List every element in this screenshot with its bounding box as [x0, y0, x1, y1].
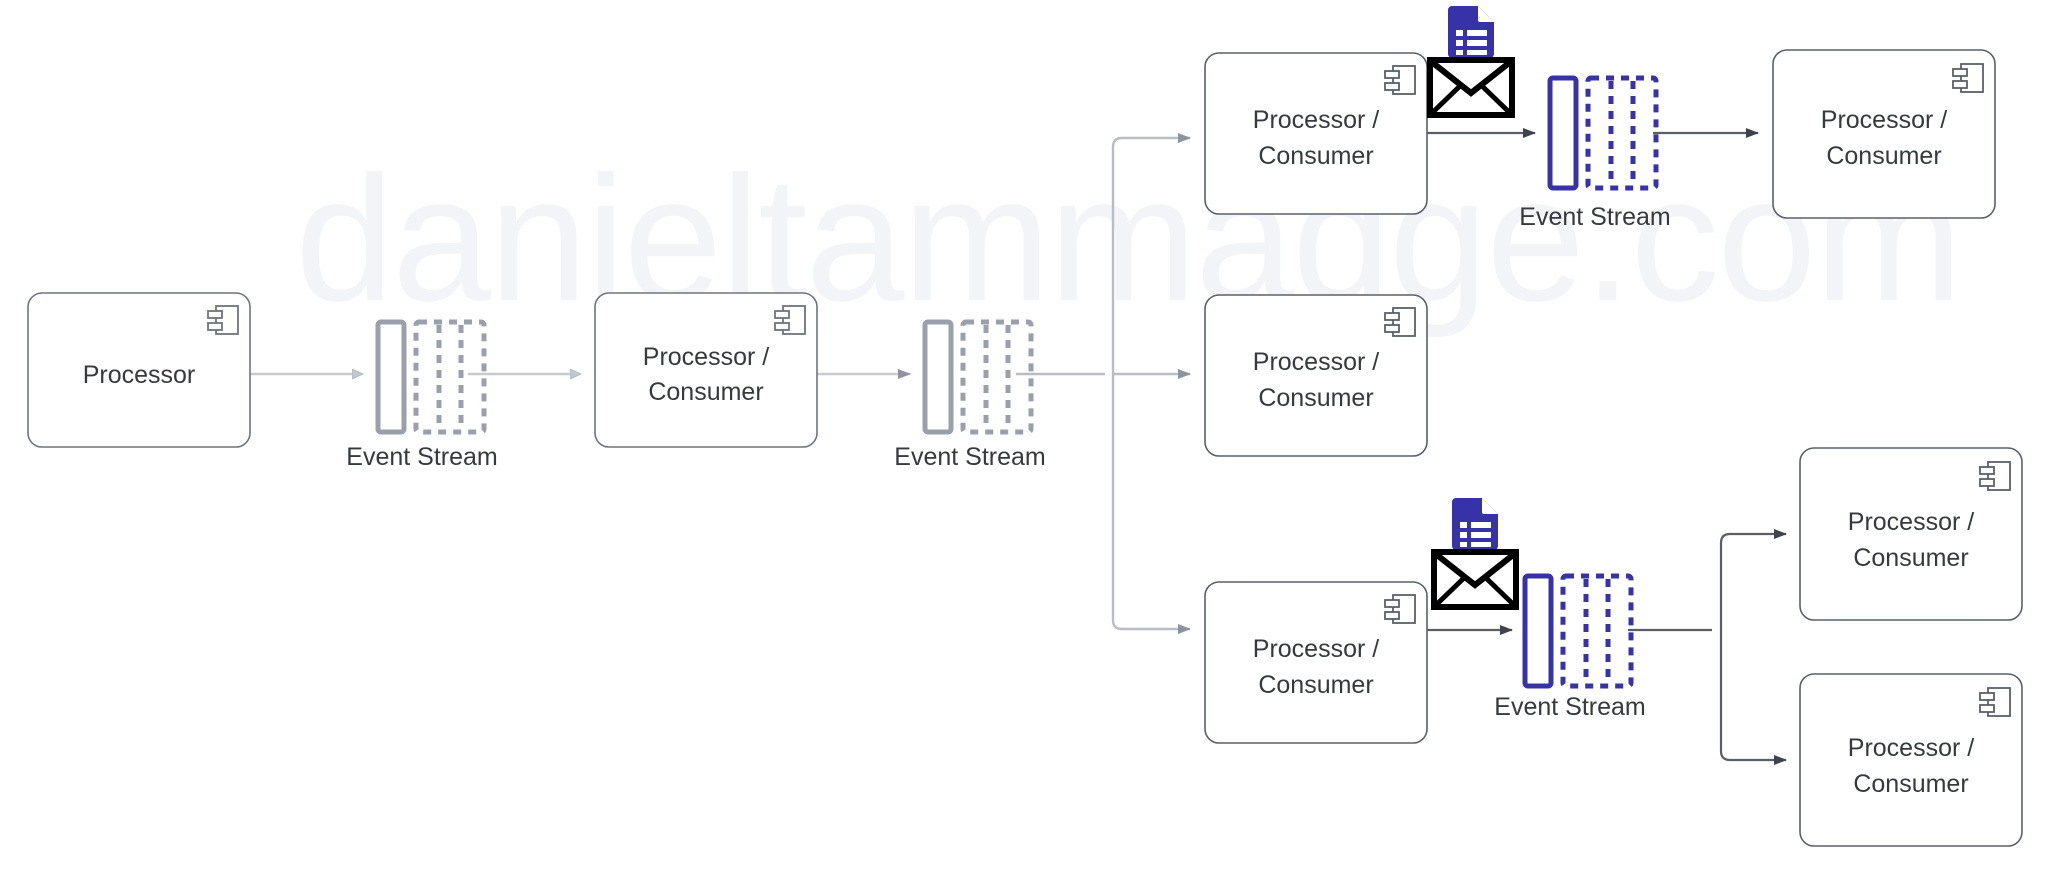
connector-branch-to-bottom: [1113, 374, 1190, 629]
node-label-line-2: Consumer: [1258, 384, 1373, 412]
architecture-diagram-svg: danieltammadge.com: [0, 0, 2048, 883]
event-stream-icon: [1525, 576, 1631, 686]
node-label-line-1: Processor /: [1253, 635, 1379, 663]
node-label-line-1: Processor /: [1848, 734, 1974, 762]
document-list-icon: [1448, 6, 1494, 58]
watermark: danieltammadge.com: [295, 139, 1961, 338]
event-stream-1[interactable]: Event Stream: [346, 322, 497, 471]
node-processor-consumer-top[interactable]: Processor / Consumer: [1205, 53, 1427, 214]
node-label-line-1: Processor: [83, 361, 196, 389]
node-label-line-1: Processor /: [1253, 106, 1379, 134]
node-label-line-2: Consumer: [1258, 142, 1373, 170]
event-stream-icon: [925, 322, 1031, 432]
node-label-line-1: Processor /: [643, 343, 769, 371]
node-label-line-1: Processor /: [1821, 106, 1947, 134]
envelope-icon: [1430, 60, 1512, 115]
node-processor-source[interactable]: Processor: [28, 293, 250, 447]
event-stream-label: Event Stream: [894, 443, 1045, 471]
node-label-line-2: Consumer: [1258, 671, 1373, 699]
message-icons-bottom: [1434, 498, 1516, 607]
node-label-line-2: Consumer: [1826, 142, 1941, 170]
node-processor-consumer-sink-3[interactable]: Processor / Consumer: [1800, 674, 2022, 846]
event-stream-label: Event Stream: [1519, 203, 1670, 231]
node-label-line-2: Consumer: [1853, 544, 1968, 572]
diagram-canvas: danieltammadge.com: [0, 0, 2048, 883]
document-list-icon: [1452, 498, 1498, 550]
event-stream-label: Event Stream: [1494, 693, 1645, 721]
node-processor-consumer-sink-1[interactable]: Processor / Consumer: [1773, 50, 1995, 218]
node-processor-consumer-middle[interactable]: Processor / Consumer: [1205, 295, 1427, 456]
node-label-line-1: Processor /: [1253, 348, 1379, 376]
event-stream-2[interactable]: Event Stream: [894, 322, 1045, 471]
envelope-icon: [1434, 552, 1516, 607]
connector-branch-2-to-sink-2: [1721, 534, 1786, 630]
node-processor-consumer-bottom[interactable]: Processor / Consumer: [1205, 582, 1427, 743]
message-icons-top: [1430, 6, 1512, 115]
node-label-line-2: Consumer: [1853, 770, 1968, 798]
node-label-line-1: Processor /: [1848, 508, 1974, 536]
event-stream-icon: [378, 322, 484, 432]
node-processor-consumer-1[interactable]: Processor / Consumer: [595, 293, 817, 447]
node-processor-consumer-sink-2[interactable]: Processor / Consumer: [1800, 448, 2022, 620]
connector-branch-2-to-sink-3: [1721, 630, 1786, 760]
node-label-line-2: Consumer: [648, 378, 763, 406]
event-stream-label: Event Stream: [346, 443, 497, 471]
